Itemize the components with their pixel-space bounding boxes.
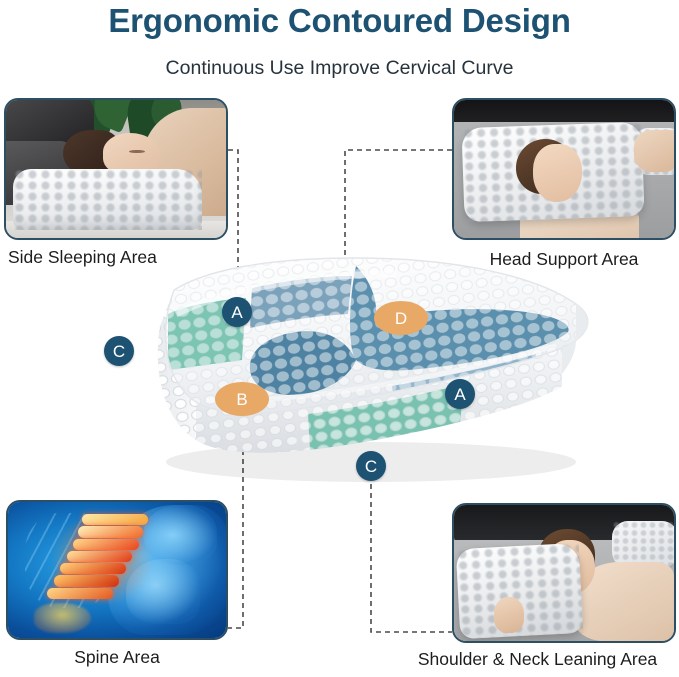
page-title: Ergonomic Contoured Design bbox=[0, 2, 679, 40]
badge-a-top[interactable]: A bbox=[222, 297, 252, 327]
badge-a-front-label: A bbox=[454, 386, 465, 403]
badge-c-left[interactable]: C bbox=[104, 336, 134, 366]
badge-a-front[interactable]: A bbox=[445, 379, 475, 409]
infographic-root: Ergonomic Contoured Design Continuous Us… bbox=[0, 0, 679, 677]
caption-shoulder-neck: Shoulder & Neck Leaning Area bbox=[396, 648, 679, 670]
photo-side-sleeping bbox=[6, 100, 226, 238]
badge-c-front[interactable]: C bbox=[356, 451, 386, 481]
badge-b[interactable]: B bbox=[227, 384, 257, 414]
badge-d[interactable]: D bbox=[386, 303, 416, 333]
photo-head-support bbox=[454, 100, 674, 238]
badge-d-label: D bbox=[395, 310, 407, 327]
photo-shoulder-neck bbox=[454, 505, 674, 641]
caption-side-sleeping: Side Sleeping Area bbox=[8, 246, 248, 268]
caption-spine-area: Spine Area bbox=[6, 646, 228, 668]
page-subtitle: Continuous Use Improve Cervical Curve bbox=[0, 56, 679, 80]
badge-c-front-label: C bbox=[365, 458, 377, 475]
panel-side-sleeping-frame bbox=[4, 98, 228, 240]
panel-shoulder-neck[interactable] bbox=[452, 503, 676, 643]
panel-shoulder-neck-frame bbox=[452, 503, 676, 643]
badge-c-left-label: C bbox=[113, 343, 125, 360]
panel-spine-area-frame bbox=[6, 500, 228, 640]
panel-head-support[interactable] bbox=[452, 98, 676, 240]
caption-head-support: Head Support Area bbox=[452, 248, 676, 270]
panel-side-sleeping[interactable] bbox=[4, 98, 228, 240]
panel-head-support-frame bbox=[452, 98, 676, 240]
panel-spine-area[interactable] bbox=[6, 500, 228, 640]
badge-a-top-label: A bbox=[231, 304, 242, 321]
badge-b-label: B bbox=[236, 391, 247, 408]
photo-spine-xray bbox=[8, 502, 226, 638]
